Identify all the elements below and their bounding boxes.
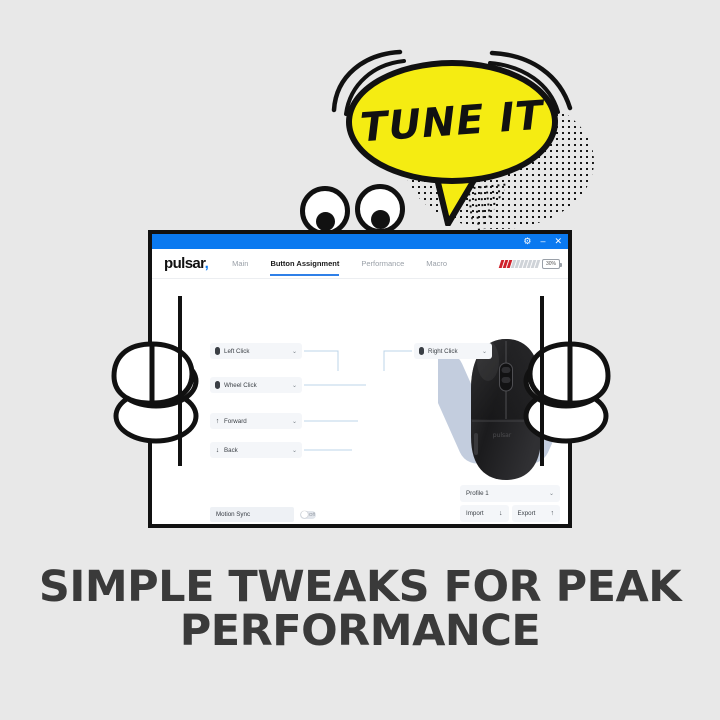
- binding-dropdown-left-click[interactable]: Left Click ⌄: [210, 343, 302, 359]
- app-topbar: pulsar, Main Button Assignment Performan…: [152, 249, 568, 279]
- tab-main[interactable]: Main: [232, 249, 248, 278]
- arrow-down-icon: ↓: [215, 447, 220, 454]
- motion-sync-toggle[interactable]: Off: [300, 511, 316, 519]
- import-label: Import: [466, 510, 484, 517]
- mouse-icon: [419, 347, 424, 355]
- pulsar-logo: pulsar,: [164, 255, 208, 272]
- tab-macro-label: Macro: [426, 259, 447, 268]
- binding-dropdown-forward[interactable]: ↑ Forward ⌄: [210, 413, 302, 429]
- tab-button-assignment-label: Button Assignment: [270, 259, 339, 268]
- chevron-down-icon: ⌄: [292, 447, 297, 454]
- eye-left-icon: [300, 186, 350, 236]
- motion-sync-state: Off: [309, 512, 315, 517]
- svg-text:pulsar: pulsar: [493, 432, 512, 439]
- hand-right: [518, 296, 614, 466]
- binding-label-right-click: Right Click: [428, 348, 458, 355]
- settings-group: Motion Sync Off Auto Sleep 12 Debounce T…: [210, 507, 452, 528]
- setting-row-motion-sync: Motion Sync Off: [210, 507, 452, 522]
- tab-macro[interactable]: Macro: [426, 249, 447, 278]
- close-icon[interactable]: ✕: [554, 237, 562, 246]
- arrow-down-icon: ↓: [499, 510, 503, 517]
- restore-button[interactable]: Restore ⟳: [460, 525, 560, 528]
- mouse-icon: [215, 347, 220, 355]
- arrow-up-icon: ↑: [551, 510, 555, 517]
- chevron-down-icon: ⌄: [292, 418, 297, 425]
- binding-label-wheel-click: Wheel Click: [224, 382, 257, 389]
- gear-icon[interactable]: ⚙: [523, 237, 531, 246]
- hand-left: [108, 296, 204, 466]
- battery-bars-icon: [499, 260, 540, 268]
- profile-select-label: Profile 1: [466, 490, 489, 497]
- battery-percent-label: 30%: [542, 259, 560, 269]
- caption-line-2: PERFORMANCE: [0, 610, 720, 654]
- motion-sync-label: Motion Sync: [210, 507, 294, 522]
- tab-performance[interactable]: Performance: [361, 249, 404, 278]
- tab-bar: Main Button Assignment Performance Macro: [232, 249, 447, 278]
- profile-io-row: Import ↓ Export ↑: [460, 505, 560, 522]
- binding-dropdown-right-click[interactable]: Right Click ⌄: [414, 343, 492, 359]
- pulsar-app-window: ⚙ – ✕ pulsar, Main Button Assignment Per…: [148, 230, 572, 528]
- binding-dropdown-back[interactable]: ↓ Back ⌄: [210, 442, 302, 458]
- logo-accent-icon: ,: [205, 255, 209, 272]
- caption-line-1: SIMPLE TWEAKS FOR PEAK: [39, 562, 681, 612]
- binding-label-forward: Forward: [224, 418, 247, 425]
- profile-select[interactable]: Profile 1 ⌄: [460, 485, 560, 502]
- setting-row-auto-sleep: Auto Sleep 12: [210, 525, 452, 528]
- window-titlebar: ⚙ – ✕: [152, 234, 568, 249]
- export-button[interactable]: Export ↑: [512, 505, 561, 522]
- chevron-down-icon: ⌄: [292, 348, 297, 355]
- chevron-down-icon: ⌄: [482, 348, 487, 355]
- mouse-icon: [215, 381, 220, 389]
- minimize-icon[interactable]: –: [540, 237, 545, 246]
- chevron-down-icon: ⌄: [292, 382, 297, 389]
- chevron-down-icon: ⌄: [549, 490, 554, 497]
- binding-label-back: Back: [224, 447, 238, 454]
- import-button[interactable]: Import ↓: [460, 505, 509, 522]
- battery-indicator: 30%: [500, 259, 560, 269]
- auto-sleep-value[interactable]: 12: [422, 526, 452, 528]
- caption: SIMPLE TWEAKS FOR PEAK PERFORMANCE: [0, 566, 720, 654]
- logo-text: pulsar: [164, 255, 205, 272]
- export-label: Export: [518, 510, 536, 517]
- tab-performance-label: Performance: [361, 259, 404, 268]
- binding-label-left-click: Left Click: [224, 348, 249, 355]
- toggle-knob: [301, 511, 308, 518]
- auto-sleep-label: Auto Sleep: [210, 525, 294, 528]
- profile-panel: Profile 1 ⌄ Import ↓ Export ↑ Restore ⟳: [460, 485, 560, 528]
- binding-dropdown-wheel-click[interactable]: Wheel Click ⌄: [210, 377, 302, 393]
- speech-bubble-text: TUNE IT: [342, 53, 562, 191]
- tab-main-label: Main: [232, 259, 248, 268]
- tab-button-assignment[interactable]: Button Assignment: [270, 249, 339, 278]
- eye-right-icon: [355, 184, 405, 234]
- arrow-up-icon: ↑: [215, 418, 220, 425]
- button-assignment-panel: pulsar Left Click ⌄ Wheel Click ⌄ ↑ Forw…: [152, 279, 568, 528]
